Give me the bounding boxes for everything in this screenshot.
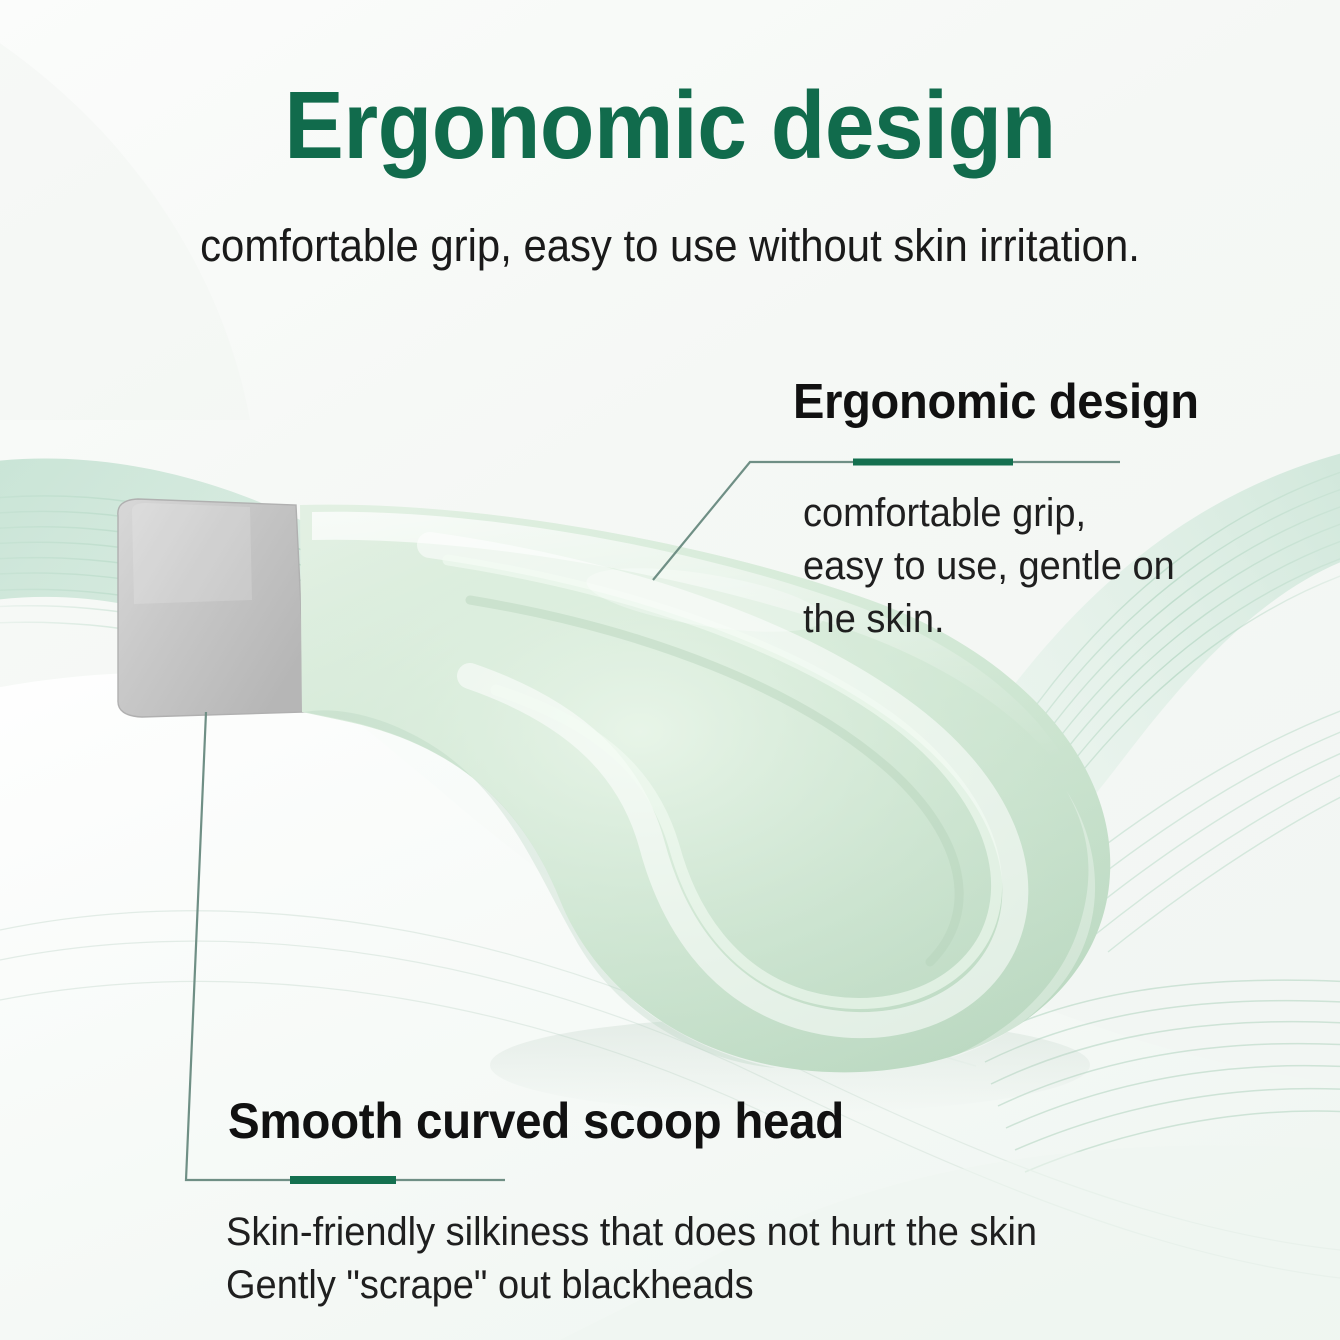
page-title: Ergonomic design (47, 78, 1293, 174)
callout-scoop-head-body-line-2: Gently "scrape" out blackheads (226, 1259, 1138, 1312)
callout-scoop-head-body: Skin-friendly silkiness that does not hu… (226, 1206, 1138, 1312)
callout-ergonomic-design-body-line-2: easy to use, gentle on (803, 540, 1202, 593)
page-subtitle: comfortable grip, easy to use without sk… (47, 222, 1293, 269)
product-infographic: Ergonomic design comfortable grip, easy … (0, 0, 1340, 1340)
callout-ergonomic-design-body: comfortable grip, easy to use, gentle on… (803, 487, 1202, 647)
callout-ergonomic-design-body-line-1: comfortable grip, (803, 487, 1202, 540)
callout-scoop-head-heading: Smooth curved scoop head (228, 1094, 844, 1148)
callout-ergonomic-design-heading: Ergonomic design (793, 376, 1199, 429)
callout-scoop-head-body-line-1: Skin-friendly silkiness that does not hu… (226, 1206, 1138, 1259)
callout-ergonomic-design-body-line-3: the skin. (803, 593, 1202, 646)
